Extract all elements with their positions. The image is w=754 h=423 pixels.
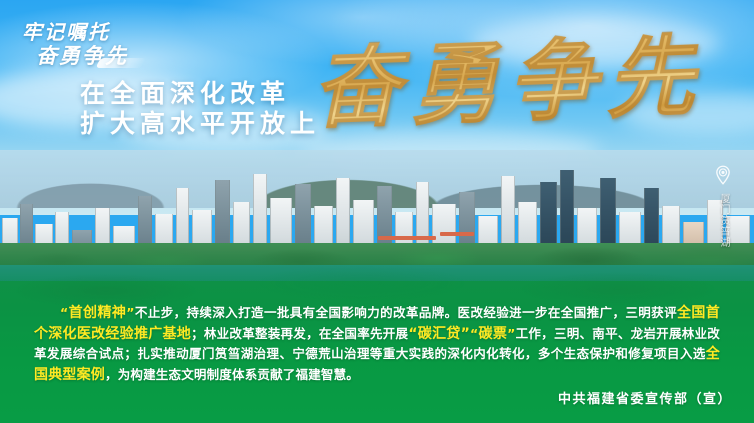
body-segment: ”	[126, 305, 134, 320]
headline-line1: 在全面深化改革	[80, 79, 320, 109]
headline-line2: 扩大高水平开放上	[80, 109, 320, 139]
map-pin-icon	[713, 165, 733, 185]
swoosh-icon	[95, 58, 146, 68]
body-segment: ；林业改革整装再发，在全国率先开展	[191, 326, 408, 341]
body-segment: ，为构建生态文明制度体系贡献了福建智慧。	[105, 367, 359, 382]
campaign-logo: 牢记嘱托 奋勇争先	[16, 22, 144, 68]
publisher-signature: 中共福建省委宣传部（宣）	[558, 388, 732, 407]
headline: 在全面深化改革 扩大高水平开放上	[80, 79, 320, 139]
propaganda-poster: 牢记嘱托 奋勇争先 在全面深化改革 扩大高水平开放上 奋勇争先 厦门筼筜湖 “首…	[0, 0, 754, 423]
body-segment: “碳汇贷”	[408, 326, 470, 342]
body-segment: ”	[507, 326, 515, 341]
body-segment: 不止步，持续深入打造一批具有全国影响力的改革品牌。医改经验进一步在全国推广，三明…	[135, 305, 677, 320]
body-segment: 碳票	[478, 326, 507, 342]
location-label: 厦门筼筜湖	[717, 193, 729, 248]
location-marker: 厦门筼筜湖	[710, 165, 736, 252]
body-segment: 首创精神	[68, 305, 126, 321]
campaign-logo-line1: 牢记嘱托	[16, 22, 144, 42]
body-copy: “首创精神”不止步，持续深入打造一批具有全国影响力的改革品牌。医改经验进一步在全…	[34, 303, 720, 385]
calligraphy-title: 奋勇争先	[311, 31, 706, 133]
